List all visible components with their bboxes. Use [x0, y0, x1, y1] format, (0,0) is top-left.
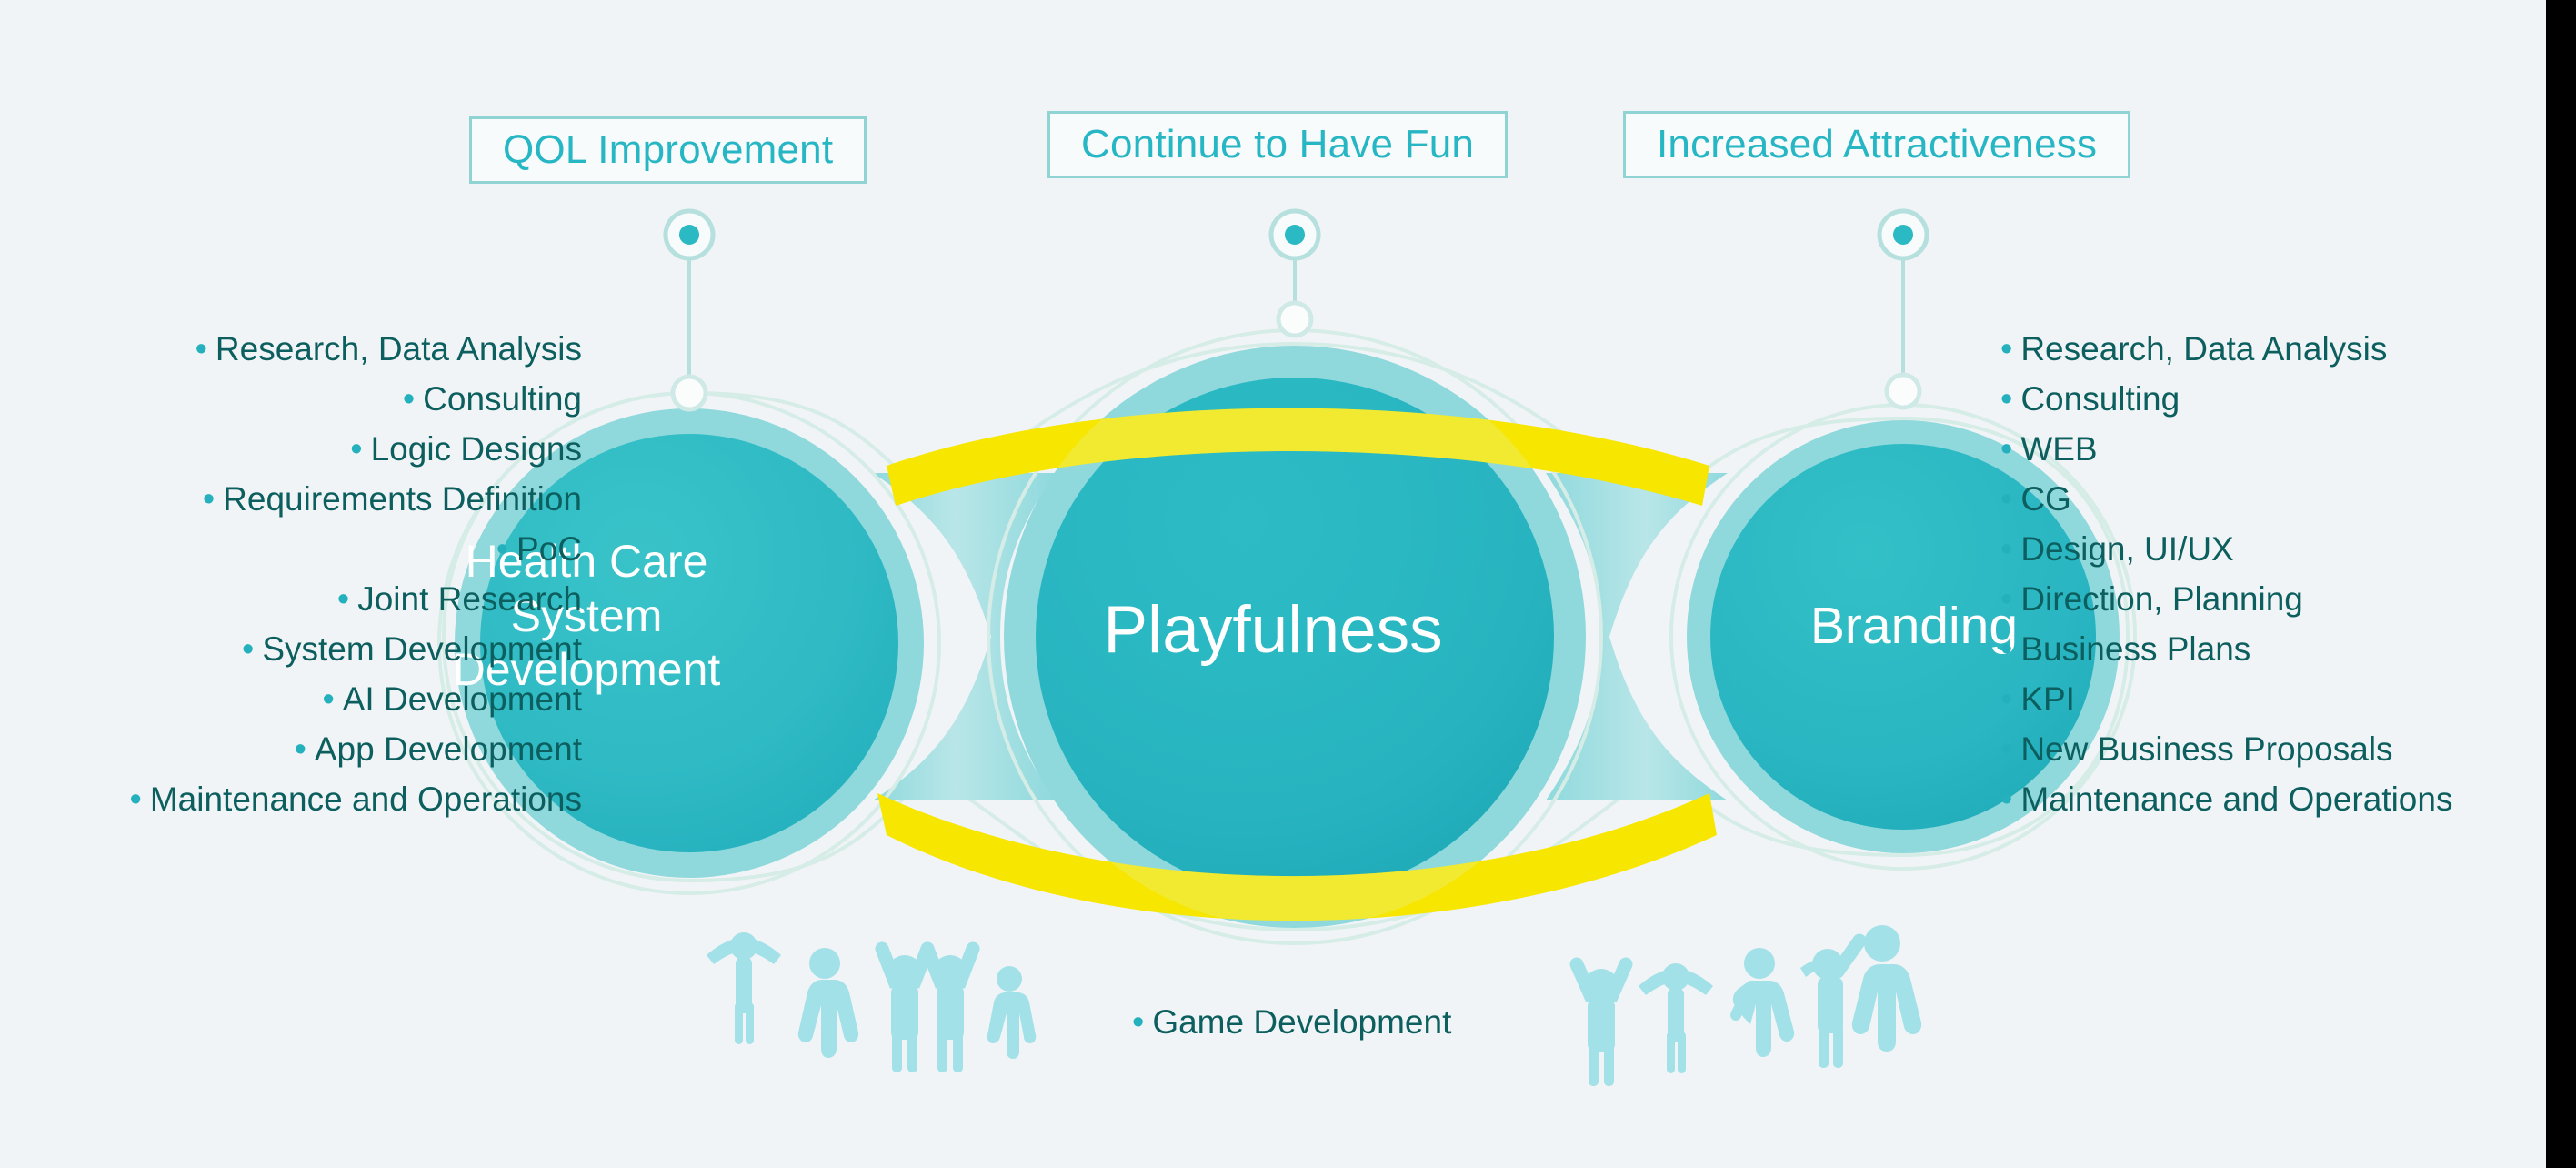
person-icon-arms-raised [882, 949, 927, 1072]
list-item: •Research, Data Analysis [195, 332, 582, 367]
person-icon-standing-small [987, 966, 1036, 1059]
list-item: •Direction, Planning [2000, 582, 2303, 617]
list-item: •AI Development [322, 682, 582, 717]
people-group-left [707, 932, 1036, 1072]
callout-continue-to-have-fun[interactable]: Continue to Have Fun [1047, 111, 1508, 178]
bullet-icon: • [203, 482, 215, 517]
person-icon-one-arm-up [1800, 941, 1859, 1068]
list-item-label: Design, UI/UX [2020, 532, 2233, 566]
callout-label: Continue to Have Fun [1081, 125, 1474, 165]
person-icon-hand-on-hip [1733, 948, 1794, 1057]
bullet-icon: • [2000, 632, 2012, 667]
list-item: •Design, UI/UX [2000, 532, 2234, 567]
callout-label: Increased Attractiveness [1657, 125, 2097, 165]
list-item-label: Business Plans [2020, 632, 2250, 666]
list-item: •PoC [496, 532, 582, 567]
people-group-right [1577, 925, 1921, 1086]
service-list-right: •Research, Data Analysis •Consulting •WE… [2000, 332, 2576, 817]
connector-dot-attractive [1893, 225, 1913, 245]
bullet-icon: • [195, 332, 207, 367]
bullet-icon: • [2000, 582, 2012, 617]
list-item: •Research, Data Analysis [2000, 332, 2387, 367]
callout-increased-attractiveness[interactable]: Increased Attractiveness [1623, 111, 2130, 178]
list-item-label: Logic Designs [371, 432, 582, 466]
list-item: •Business Plans [2000, 632, 2250, 667]
bullet-icon: • [2000, 432, 2012, 467]
list-item-label: Game Development [1152, 1005, 1451, 1039]
list-item-label: WEB [2020, 432, 2097, 466]
bullet-icon: • [242, 632, 254, 667]
list-item-label: Research, Data Analysis [2020, 332, 2387, 366]
bullet-icon: • [130, 782, 142, 817]
list-item-label: New Business Proposals [2020, 732, 2392, 766]
service-list-center: •Game Development [1132, 1005, 1459, 1040]
callout-qol-improvement[interactable]: QOL Improvement [469, 116, 867, 184]
diagram-canvas: QOL Improvement Continue to Have Fun Inc… [0, 0, 2576, 1168]
list-item: •Game Development [1132, 1005, 1451, 1040]
list-item-label: PoC [516, 532, 582, 566]
list-item-label: Joint Research [357, 582, 582, 616]
bullet-icon: • [2000, 482, 2012, 517]
list-item-label: KPI [2020, 682, 2075, 716]
bullet-icon: • [2000, 782, 2012, 817]
person-icon-arms-raised [1577, 964, 1626, 1086]
list-item-label: AI Development [343, 682, 582, 716]
list-item: •Maintenance and Operations [130, 782, 582, 817]
bullet-icon: • [496, 532, 508, 567]
list-item-label: Direction, Planning [2020, 582, 2303, 616]
connector-dot-qol [679, 225, 699, 245]
list-item: •CG [2000, 482, 2071, 517]
connector-endpoint-qol [673, 377, 706, 409]
list-item: •Requirements Definition [203, 482, 582, 517]
bullet-icon: • [350, 432, 362, 467]
bullet-icon: • [2000, 382, 2012, 417]
bullet-icon: • [2000, 332, 2012, 367]
bullet-icon: • [322, 682, 334, 717]
list-item: •Consulting [2000, 382, 2180, 417]
list-item: •Logic Designs [350, 432, 582, 467]
list-item-label: Maintenance and Operations [150, 782, 582, 816]
person-icon-hands-on-head [707, 932, 781, 1044]
connector-endpoint-fun [1278, 303, 1311, 336]
list-item-label: Maintenance and Operations [2020, 782, 2452, 816]
list-item: •System Development [242, 632, 582, 667]
bullet-icon: • [2000, 532, 2012, 567]
right-edge-strip [2546, 0, 2576, 1168]
bullet-icon: • [295, 732, 306, 767]
list-item-label: Requirements Definition [223, 482, 582, 516]
list-item-label: Research, Data Analysis [216, 332, 582, 366]
connector-dot-fun [1285, 225, 1305, 245]
bullet-icon: • [2000, 732, 2012, 767]
list-item-label: Consulting [2020, 382, 2180, 416]
connector-endpoint-attractive [1887, 375, 1919, 408]
list-item: •App Development [295, 732, 582, 767]
service-list-left: •Research, Data Analysis •Consulting •Lo… [0, 332, 582, 817]
list-item-label: CG [2020, 482, 2071, 516]
bullet-icon: • [2000, 682, 2012, 717]
connector-fun [1271, 211, 1318, 336]
list-item-label: Consulting [423, 382, 582, 416]
bullet-icon: • [403, 382, 415, 417]
connector-qol [666, 211, 713, 409]
bullet-icon: • [1132, 1005, 1144, 1040]
list-item: •New Business Proposals [2000, 732, 2393, 767]
bullet-icon: • [337, 582, 349, 617]
callout-label: QOL Improvement [503, 130, 833, 170]
person-icon-standing [798, 948, 858, 1058]
list-item: •Joint Research [337, 582, 582, 617]
connector-attractive [1879, 211, 1927, 408]
list-item: •KPI [2000, 682, 2075, 717]
list-item: •Maintenance and Operations [2000, 782, 2452, 817]
list-item-label: System Development [262, 632, 582, 666]
person-icon-arms-raised [927, 949, 973, 1072]
list-item: •Consulting [403, 382, 582, 417]
list-item: •WEB [2000, 432, 2098, 467]
list-item-label: App Development [315, 732, 582, 766]
person-icon-hands-on-head [1639, 963, 1713, 1073]
